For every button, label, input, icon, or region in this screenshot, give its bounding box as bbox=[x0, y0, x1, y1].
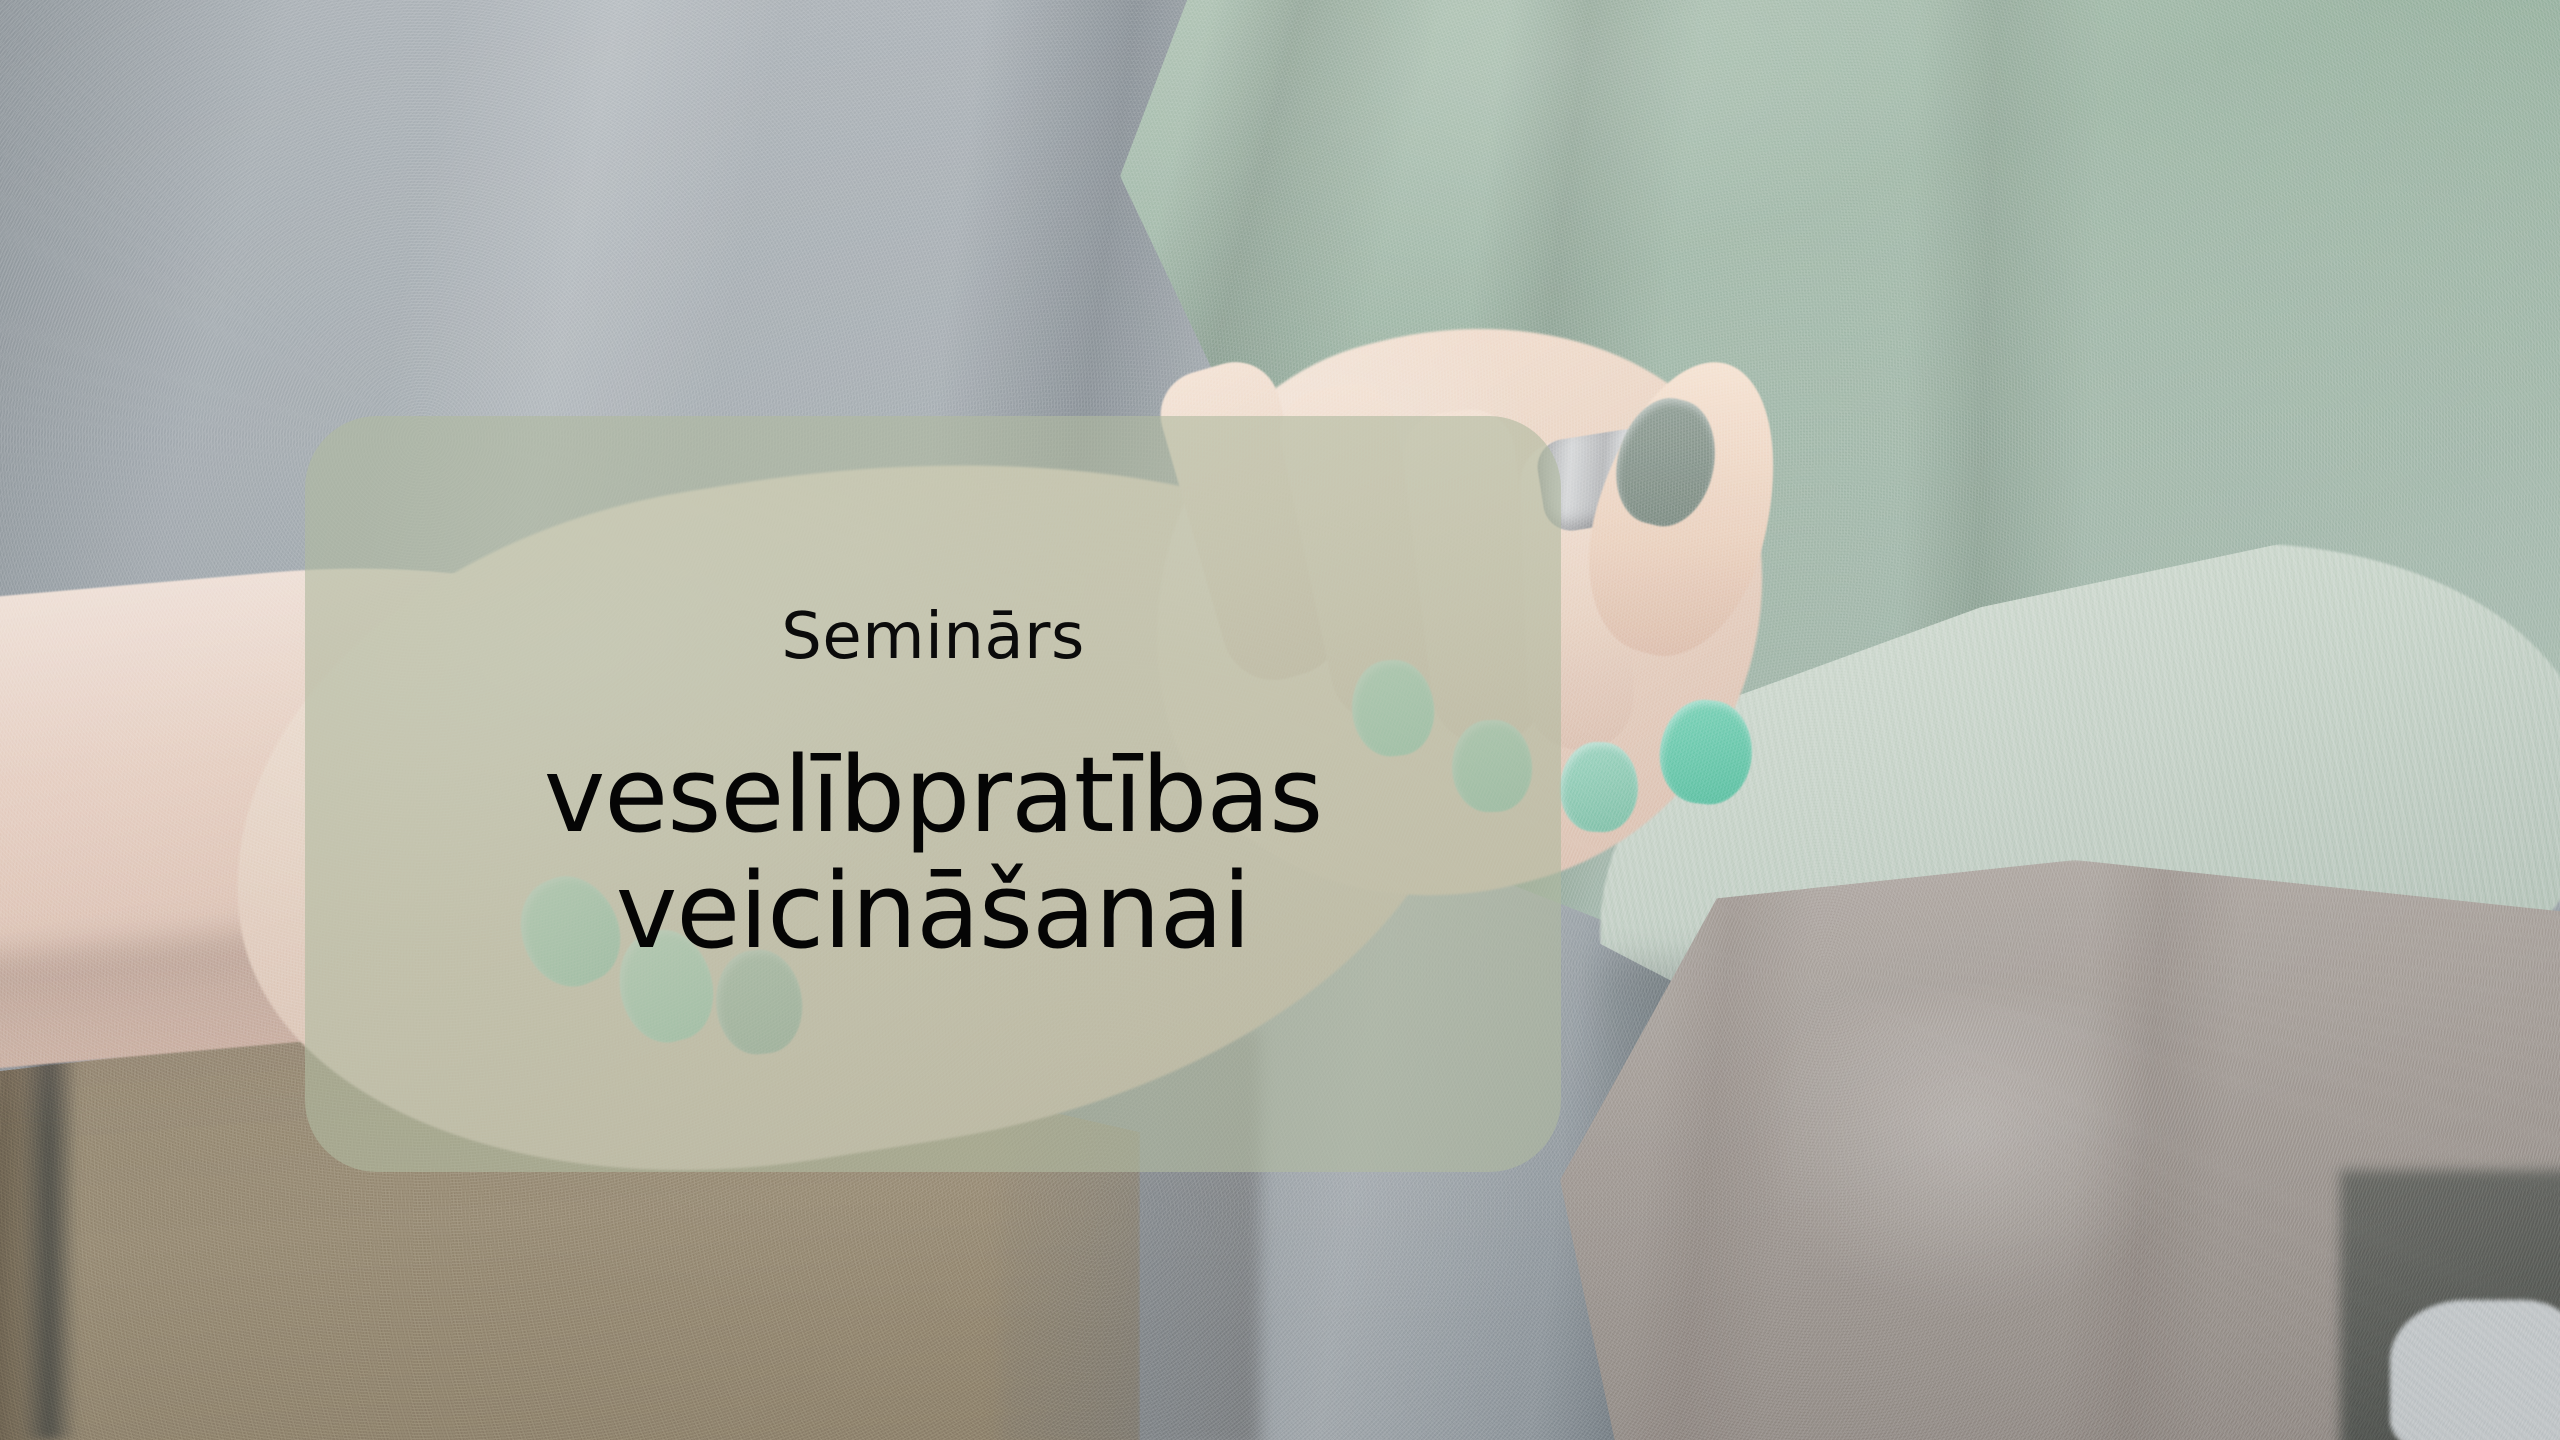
poster-canvas: Seminārs veselībpratības veicināšanai bbox=[0, 0, 2560, 1440]
knit-fabric-detail bbox=[2390, 1300, 2560, 1440]
headline-line-1: veselībpratības bbox=[544, 734, 1323, 856]
headline: veselībpratības veicināšanai bbox=[365, 737, 1501, 970]
eyebrow-label: Seminārs bbox=[365, 602, 1501, 672]
text-overlay-card: Seminārs veselībpratības veicināšanai bbox=[305, 416, 1561, 1172]
trousers-knee-highlight bbox=[1760, 1000, 2280, 1440]
upper-hand-nail-3-mint bbox=[1558, 741, 1639, 834]
headline-line-2: veicināšanai bbox=[365, 853, 1501, 969]
text-block: Seminārs veselībpratības veicināšanai bbox=[305, 602, 1561, 969]
